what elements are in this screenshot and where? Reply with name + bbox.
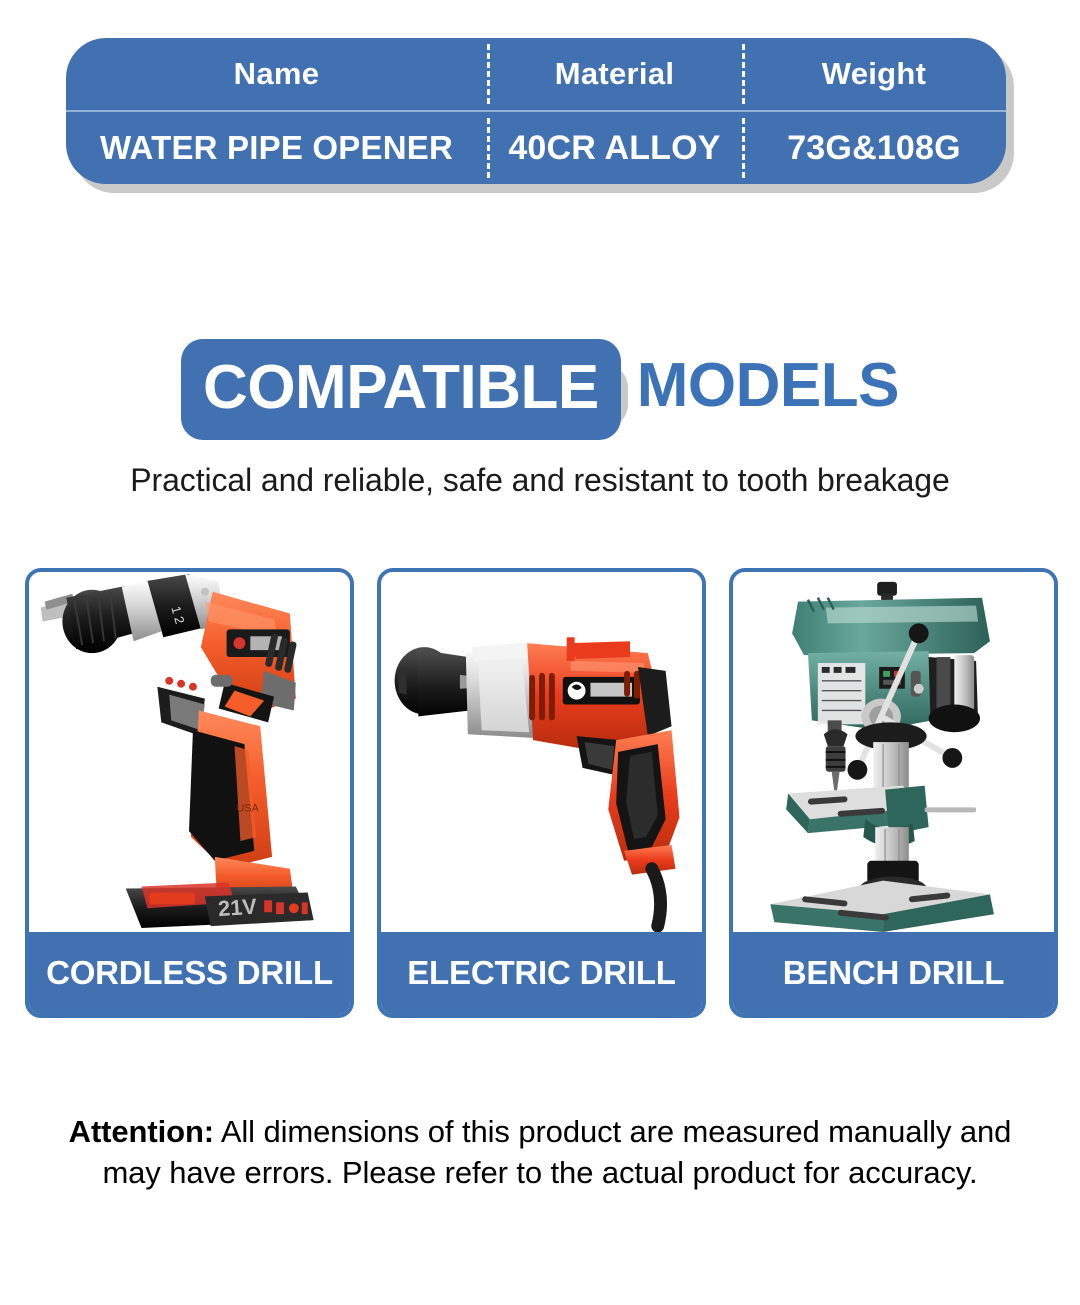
spec-header-weight: Weight <box>742 38 1006 110</box>
spec-table-header-row: Name Material Weight <box>66 38 1006 112</box>
cordless-drill-photo: 1 2 <box>29 572 350 932</box>
bench-drill-photo <box>733 572 1054 932</box>
electric-drill-photo <box>381 572 702 932</box>
spec-value-material: 40CR ALLOY <box>487 112 742 184</box>
attention-label: Attention: <box>69 1114 214 1149</box>
svg-text:USA: USA <box>236 802 259 814</box>
svg-text:21V: 21V <box>217 893 258 921</box>
section-heading: COMPATIBLE MODELS <box>0 332 1080 444</box>
column-divider-3 <box>487 118 490 178</box>
compatible-models-list: 1 2 <box>25 568 1058 1018</box>
attention-note: Attention: All dimensions of this produc… <box>40 1112 1040 1194</box>
column-divider-2 <box>742 44 745 104</box>
spec-table-value-row: WATER PIPE OPENER 40CR ALLOY 73G&108G <box>66 112 1006 184</box>
section-subtitle: Practical and reliable, safe and resista… <box>0 462 1080 499</box>
model-card-electric-drill[interactable]: ELECTRIC DRILL <box>377 568 706 1018</box>
model-card-bench-drill[interactable]: BENCH DRILL <box>729 568 1058 1018</box>
model-card-label-bench: BENCH DRILL <box>733 932 1054 1014</box>
model-card-label-electric: ELECTRIC DRILL <box>381 932 702 1014</box>
heading-highlight-text: COMPATIBLE <box>181 339 621 440</box>
spec-value-name: WATER PIPE OPENER <box>66 112 487 184</box>
heading-pill: COMPATIBLE <box>181 357 621 419</box>
column-divider-4 <box>742 118 745 178</box>
model-card-label-cordless: CORDLESS DRILL <box>29 932 350 1014</box>
attention-text: All dimensions of this product are measu… <box>102 1114 1011 1190</box>
spec-table-body: Name Material Weight WATER PIPE OPENER 4… <box>66 38 1006 184</box>
spec-value-weight: 73G&108G <box>742 112 1006 184</box>
spec-table: Name Material Weight WATER PIPE OPENER 4… <box>66 38 1006 184</box>
heading-plain-text: MODELS <box>637 355 899 417</box>
column-divider-1 <box>487 44 490 104</box>
spec-header-material: Material <box>487 38 742 110</box>
model-card-cordless-drill[interactable]: 1 2 <box>25 568 354 1018</box>
spec-header-name: Name <box>66 38 487 110</box>
